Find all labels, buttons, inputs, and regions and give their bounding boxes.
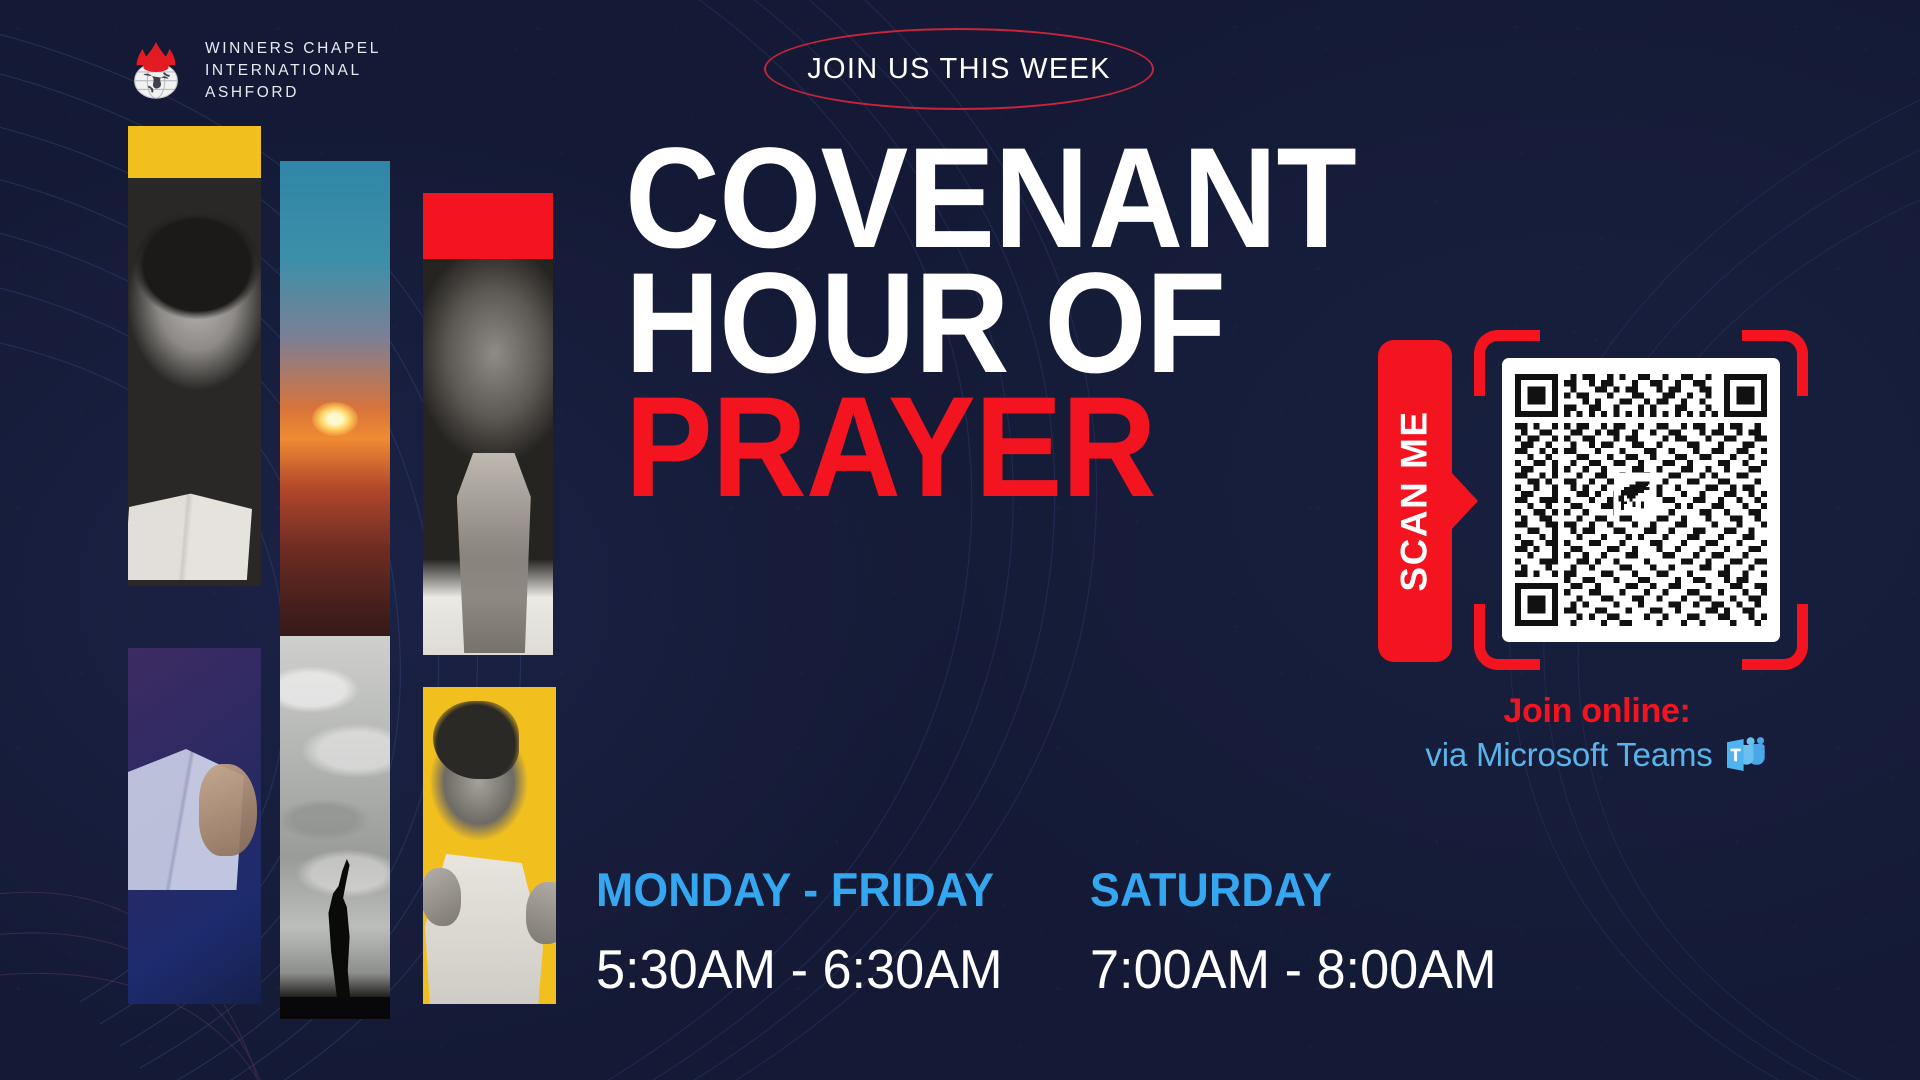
scan-me-label: SCAN ME: [1394, 410, 1436, 591]
photo-collage: [0, 0, 600, 1080]
schedule-item-saturday: SATURDAY 7:00AM - 8:00AM: [1090, 862, 1518, 1001]
man-praying-hands-photo: [423, 193, 553, 655]
schedule-days-weekday: MONDAY - FRIDAY: [596, 862, 1003, 917]
join-online-block: Join online: via Microsoft Teams: [1372, 692, 1822, 775]
silhouette-worship-photo: [280, 636, 390, 1019]
sunset-beach-photo: [280, 161, 390, 657]
join-online-heading: Join online:: [1372, 692, 1822, 731]
woman-reading-bible-photo: [128, 126, 261, 586]
open-bible-hand-photo: [128, 648, 261, 1004]
qr-code-image[interactable]: [1502, 358, 1780, 642]
join-online-platform: via Microsoft Teams: [1425, 736, 1712, 774]
schedule-days-saturday: SATURDAY: [1090, 862, 1497, 917]
woman-worshipping-photo: [423, 687, 556, 1004]
qr-code-matrix: [1515, 371, 1767, 629]
headline-line-3: PRAYER: [625, 389, 1269, 508]
microsoft-teams-icon: [1725, 735, 1769, 775]
qr-frame: [1474, 330, 1808, 670]
headline-line-1: COVENANT: [625, 140, 1269, 259]
headline-block: COVENANT HOUR OF PRAYER: [625, 140, 1325, 508]
scan-me-tab: SCAN ME: [1378, 340, 1452, 662]
join-us-badge-label: JOIN US THIS WEEK: [807, 53, 1111, 86]
schedule-item-weekday: MONDAY - FRIDAY 5:30AM - 6:30AM: [596, 862, 1024, 1001]
schedule-block: MONDAY - FRIDAY 5:30AM - 6:30AM SATURDAY…: [596, 862, 1518, 1001]
flyer-canvas: WINNERS CHAPEL INTERNATIONAL ASHFORD JOI…: [0, 0, 1920, 1080]
dinosaur-icon: [1614, 473, 1656, 515]
qr-code-block[interactable]: SCAN ME: [1378, 330, 1808, 670]
headline-line-2: HOUR OF: [625, 265, 1269, 384]
join-us-badge: JOIN US THIS WEEK: [764, 28, 1154, 110]
schedule-time-weekday: 5:30AM - 6:30AM: [596, 937, 1003, 1001]
schedule-time-saturday: 7:00AM - 8:00AM: [1090, 937, 1497, 1001]
